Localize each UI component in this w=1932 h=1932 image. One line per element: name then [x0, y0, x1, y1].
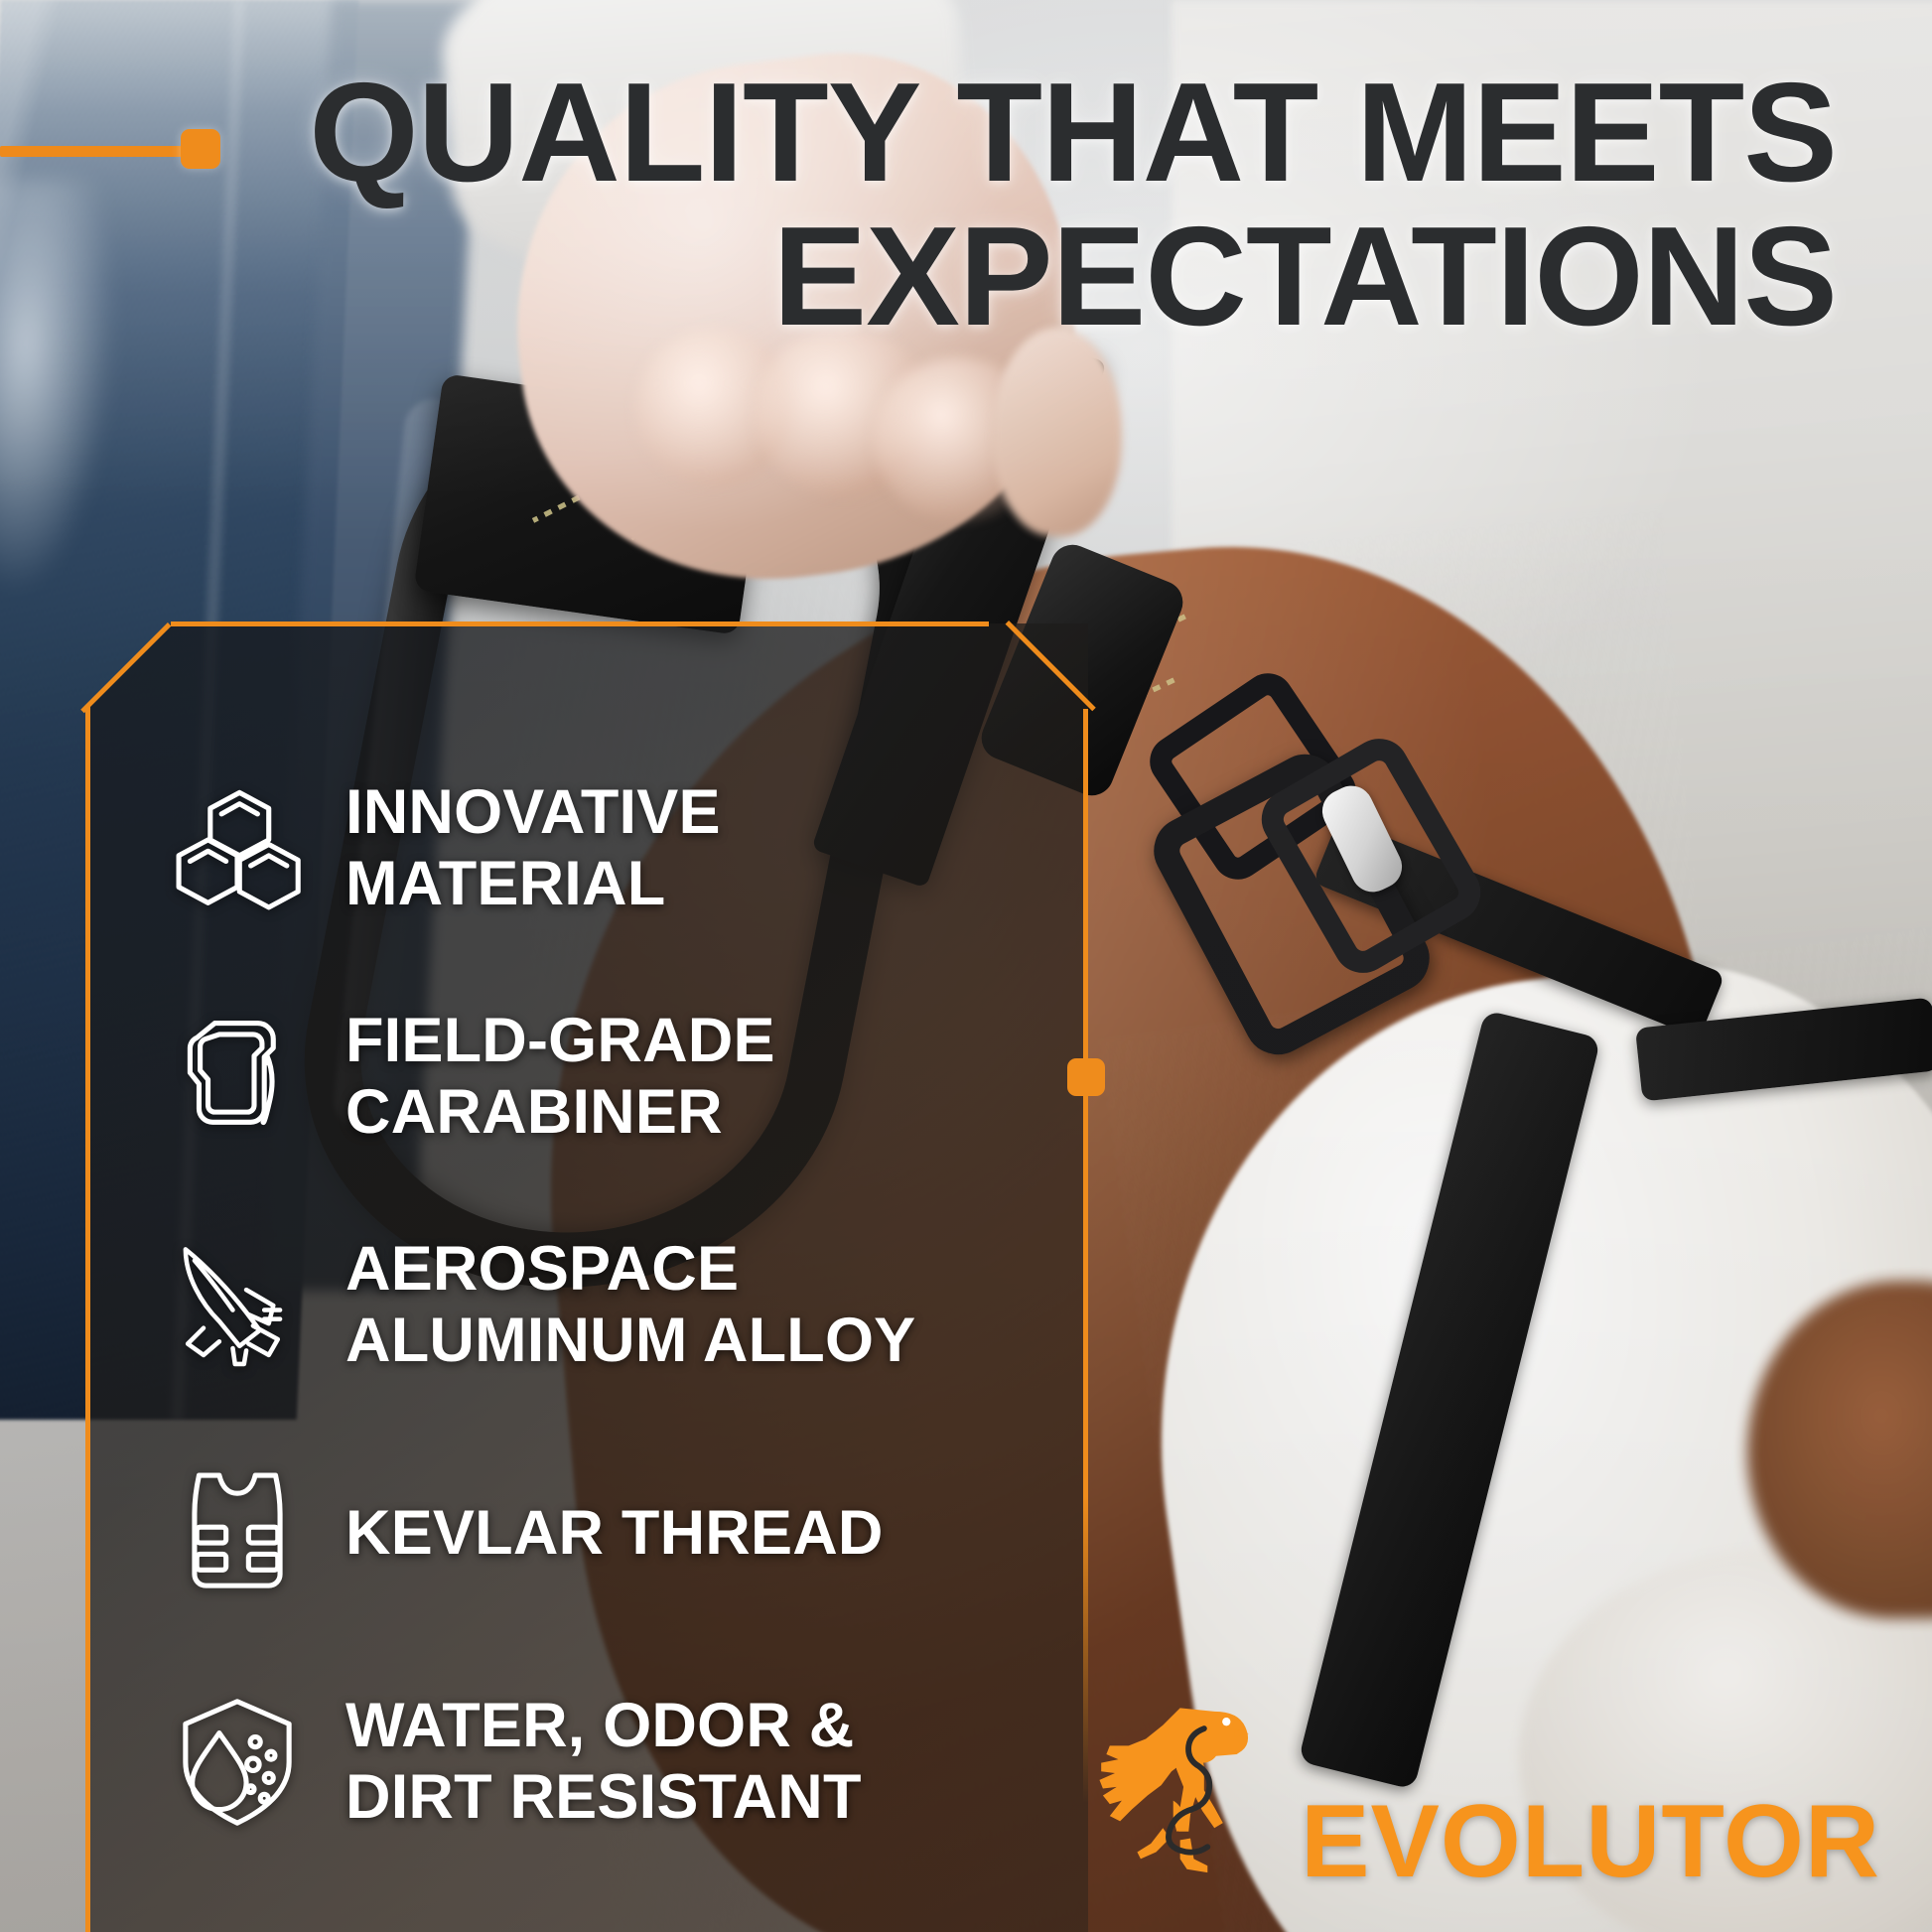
orange-accent-square [181, 129, 220, 169]
product-infographic: QUALITY THAT MEETS EXPECTATIONS [0, 0, 1932, 1932]
feature-panel: INNOVATIVE MATERIAL FIELD-GRADE CARABINE… [85, 623, 1088, 1932]
feature-item-water-odor-dirt-resistant: WATER, ODOR & DIRT RESISTANT [85, 1648, 1088, 1876]
feature-item-innovative-material: INNOVATIVE MATERIAL [85, 735, 1088, 963]
brand-logo: EVOLUTOR [1086, 1698, 1880, 1886]
feature-item-kevlar-thread: KEVLAR THREAD [85, 1420, 1088, 1648]
page-title: QUALITY THAT MEETS EXPECTATIONS [248, 62, 1837, 349]
carabiner-icon [163, 1003, 312, 1152]
feature-item-field-grade-carabiner: FIELD-GRADE CARABINER [85, 963, 1088, 1191]
tactical-vest-icon [163, 1459, 312, 1608]
feature-label: INNOVATIVE MATERIAL [345, 777, 721, 920]
feature-list: INNOVATIVE MATERIAL FIELD-GRADE CARABINE… [85, 623, 1088, 1932]
brand-name: EVOLUTOR [1301, 1798, 1880, 1886]
feature-label: KEVLAR THREAD [345, 1498, 884, 1570]
feature-label: WATER, ODOR & DIRT RESISTANT [345, 1691, 862, 1834]
trex-dinosaur-on-leash-icon [1086, 1698, 1295, 1886]
honeycomb-hexagons-icon [163, 774, 312, 923]
feature-label: AEROSPACE ALUMINUM ALLOY [345, 1234, 915, 1377]
shield-water-drop-icon [163, 1688, 312, 1837]
orange-accent-line [0, 146, 189, 157]
feature-item-aerospace-aluminum-alloy: AEROSPACE ALUMINUM ALLOY [85, 1191, 1088, 1420]
feature-label: FIELD-GRADE CARABINER [345, 1006, 775, 1149]
fighter-jet-icon [163, 1231, 312, 1380]
